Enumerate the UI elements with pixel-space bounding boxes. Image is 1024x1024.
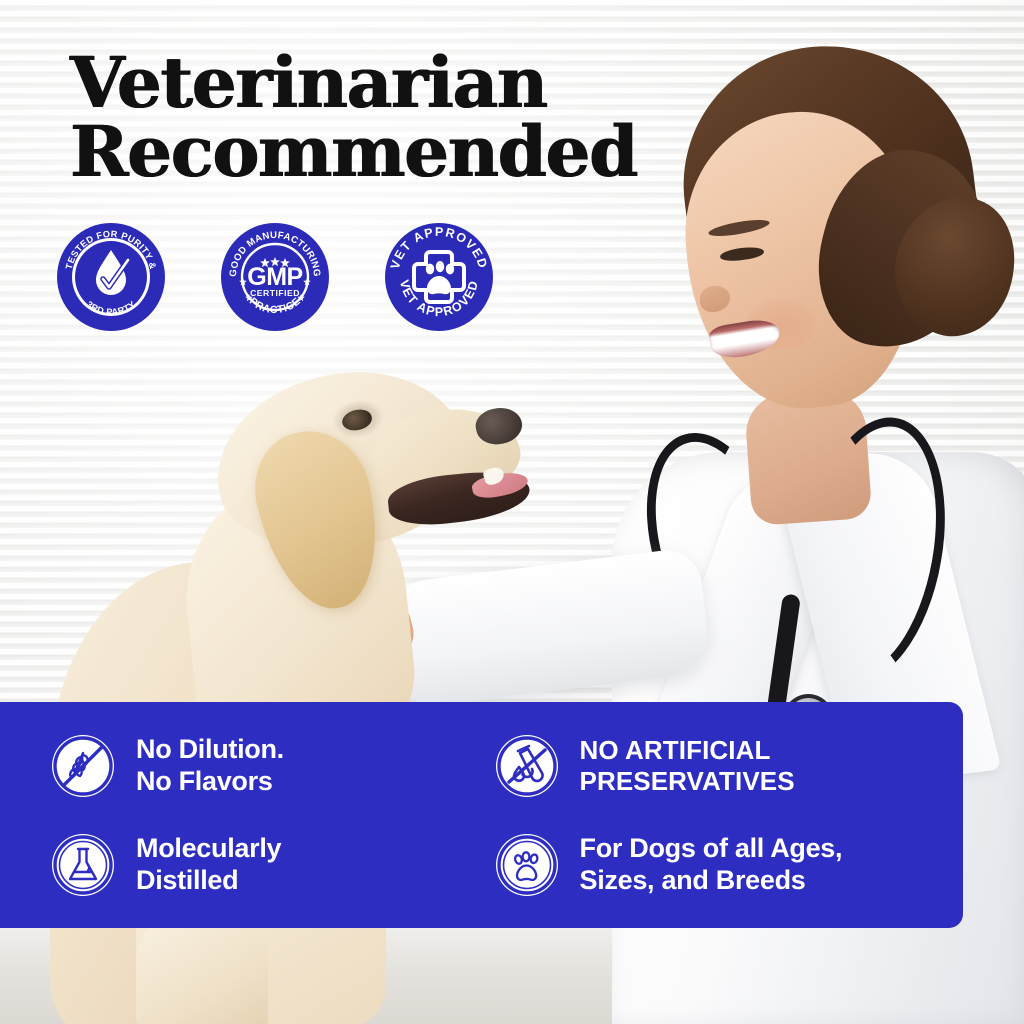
product-marketing-image: Veterinarian Recommended TESTED FOR PURI… — [0, 0, 1024, 1024]
flask-icon — [52, 834, 114, 896]
feature-molecularly-distilled: Molecularly Distilled — [0, 833, 482, 896]
headline: Veterinarian Recommended — [70, 48, 690, 187]
feature-label: NO ARTIFICIAL PRESERVATIVES — [580, 735, 795, 795]
dog-front-leg — [136, 912, 268, 1024]
feature-label: For Dogs of all Ages, Sizes, and Breeds — [580, 833, 843, 896]
headline-line-2: Recommended — [70, 117, 690, 186]
paw-icon — [496, 834, 558, 896]
no-wheat-icon — [52, 735, 114, 797]
feature-label: Molecularly Distilled — [136, 833, 281, 896]
badge-2-center-subtext: CERTIFIED — [250, 288, 300, 298]
feature-label: No Dilution. No Flavors — [136, 734, 284, 797]
feature-no-artificial-preservatives: NO ARTIFICIAL PRESERVATIVES — [482, 735, 964, 797]
feature-for-all-dogs: For Dogs of all Ages, Sizes, and Breeds — [482, 833, 964, 896]
no-test-tube-icon — [496, 735, 558, 797]
feature-no-dilution: No Dilution. No Flavors — [0, 734, 482, 797]
certification-badges: TESTED FOR PURITY & 3RD PARTY — [56, 222, 494, 332]
feature-panel: No Dilution. No Flavors NO ARTIFICIAL PR… — [0, 702, 963, 928]
badge-third-party-tested: TESTED FOR PURITY & 3RD PARTY — [56, 222, 166, 332]
badge-2-center-text: GMP — [247, 263, 302, 291]
badge-vet-approved: VET APPROVED VET APPROVED — [384, 222, 494, 332]
badge-gmp-certified: GOOD MANUFACTURING PRACTICE GMP CERTIFIE… — [220, 222, 330, 332]
